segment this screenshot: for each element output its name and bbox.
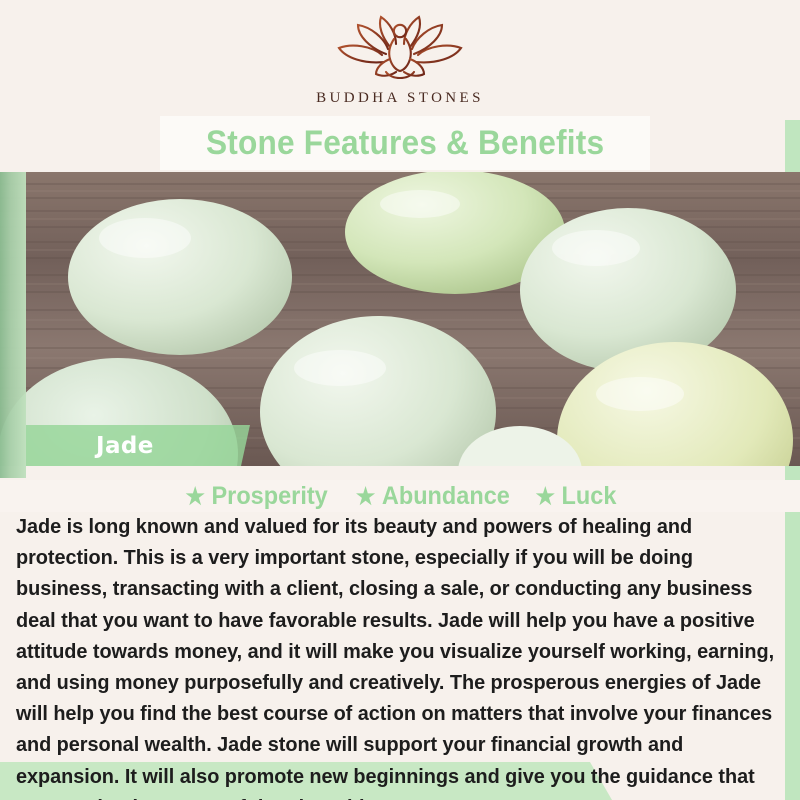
benefits-row: ★ Prosperity ★ Abundance ★ Luck xyxy=(0,480,800,512)
stone-name-band: Jade xyxy=(26,425,250,466)
benefit-label: Prosperity xyxy=(212,482,328,511)
brand-header: BUDDHA STONES xyxy=(0,0,800,120)
star-icon: ★ xyxy=(356,485,375,508)
star-icon: ★ xyxy=(186,485,205,508)
benefit-label: Luck xyxy=(561,482,616,511)
benefit-prosperity: ★ Prosperity xyxy=(186,482,328,511)
infographic-page: BUDDHA STONES Stone Features & Benefits xyxy=(0,0,800,800)
frame-left-green-bar xyxy=(0,172,26,478)
page-title: Stone Features & Benefits xyxy=(206,124,604,163)
star-icon: ★ xyxy=(535,485,554,508)
stone-name-label: Jade xyxy=(96,433,154,459)
benefit-abundance: ★ Abundance xyxy=(356,482,510,511)
header-banner: Stone Features & Benefits xyxy=(160,116,650,170)
description-paragraph: Jade is long known and valued for its be… xyxy=(16,512,776,800)
description-text: Jade is long known and valued for its be… xyxy=(16,512,776,800)
benefit-luck: ★ Luck xyxy=(535,482,616,511)
lotus-meditation-icon xyxy=(334,14,466,84)
stone-photo xyxy=(0,172,800,466)
brand-name: BUDDHA STONES xyxy=(316,90,484,107)
benefit-label: Abundance xyxy=(382,482,510,511)
